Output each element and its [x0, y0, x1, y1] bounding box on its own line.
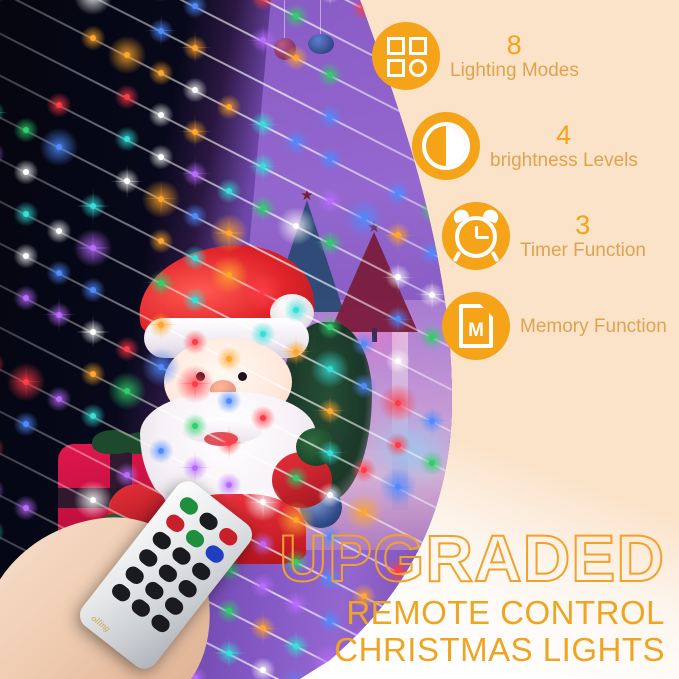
product-banner: ★ ★: [0, 0, 679, 679]
alarm-clock-icon: [442, 202, 510, 270]
santa-eye: [238, 372, 247, 381]
feature-brightness-levels: 4 brightness Levels: [412, 112, 679, 180]
feature-timer-function: 3 Timer Function: [442, 202, 679, 270]
feature-label: Memory Function: [520, 317, 667, 336]
headline-block: UPGRADED REMOTE CONTROL CHRISTMAS LIGHTS: [0, 526, 679, 669]
feature-label: Timer Function: [520, 241, 646, 260]
headline-title: UPGRADED: [0, 526, 665, 591]
ornament-string: [320, 0, 321, 36]
lighting-modes-icon: [372, 22, 440, 90]
feature-number: 4: [556, 122, 572, 149]
feature-lighting-modes: 8 Lighting Modes: [372, 22, 679, 90]
headline-line-2: CHRISTMAS LIGHTS: [0, 632, 665, 669]
headline-line-1: REMOTE CONTROL: [0, 595, 665, 632]
memory-document-icon: M: [442, 292, 510, 360]
brightness-half-circle-icon: [412, 112, 480, 180]
feature-label: Lighting Modes: [450, 61, 579, 80]
feature-memory-function: M Memory Function: [442, 292, 679, 360]
feature-number: 8: [507, 32, 523, 59]
memory-icon-letter: M: [463, 320, 489, 342]
hanging-reindeer-ornament: [308, 34, 334, 54]
feature-label: brightness Levels: [490, 151, 638, 170]
feature-number: 3: [575, 212, 591, 239]
feature-list: 8 Lighting Modes 4 brightness Levels: [368, 22, 679, 382]
